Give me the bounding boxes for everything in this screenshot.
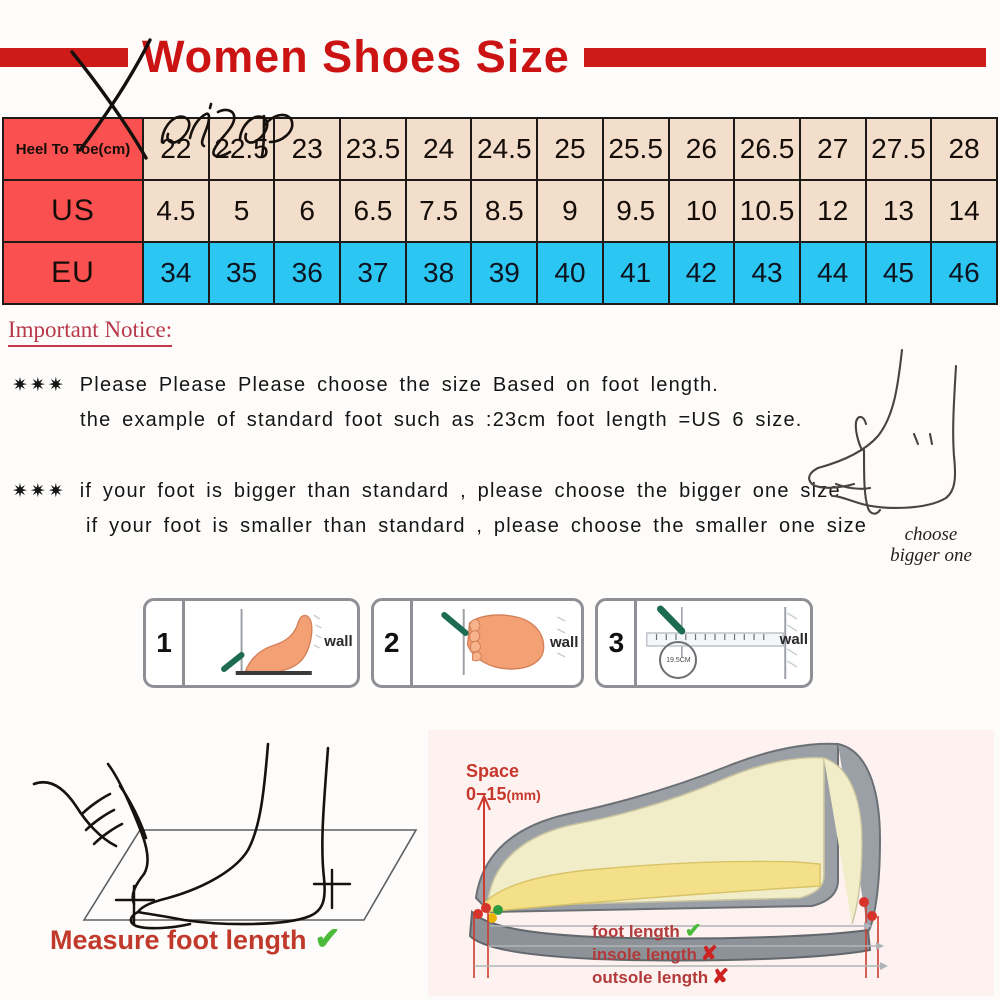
page-title: Women Shoes Size <box>128 31 584 83</box>
choose-bigger-line-1: choose <box>856 524 1000 545</box>
cell-eu-8: 42 <box>669 242 735 304</box>
label-insole-length: insole length✘ <box>592 943 729 966</box>
cell-cm-4: 24 <box>406 118 472 180</box>
cell-eu-1: 35 <box>209 242 275 304</box>
space-gap-label: Space 0−15(mm) <box>466 760 541 807</box>
space-label-line-2: 0−15(mm) <box>466 783 541 807</box>
wall-label-1: wall <box>324 633 352 650</box>
space-unit: (mm) <box>507 787 541 803</box>
step-panel-3: 3 19 <box>595 598 813 688</box>
notice-item-2-line-2: if your foot is smaller than standard , … <box>12 509 867 543</box>
cell-us-5: 8.5 <box>471 180 537 242</box>
step-panel-1: 1 wall <box>143 598 360 688</box>
space-value: 0−15 <box>466 784 507 804</box>
cell-eu-2: 36 <box>274 242 340 304</box>
insole-length-cross-icon: ✘ <box>701 943 718 965</box>
cell-cm-10: 27 <box>800 118 866 180</box>
cell-cm-0: 22 <box>143 118 209 180</box>
notice-item-1: ✷✷✷Please Please Please choose the size … <box>12 368 803 437</box>
outsole-length-text: outsole length <box>592 968 708 987</box>
wall-label-2: wall <box>550 634 578 651</box>
notice-item-1-line-2: the example of standard foot such as :23… <box>12 403 803 437</box>
cell-us-1: 5 <box>209 180 275 242</box>
cell-cm-12: 28 <box>931 118 997 180</box>
cell-eu-4: 38 <box>406 242 472 304</box>
cell-eu-5: 39 <box>471 242 537 304</box>
row-label-heel-to-toe: Heel To Toe(cm) <box>3 118 143 180</box>
cell-us-4: 7.5 <box>406 180 472 242</box>
label-outsole-length: outsole length✘ <box>592 966 729 989</box>
important-notice-heading: Important Notice: <box>8 317 172 347</box>
step-3-illustration: 19.5CM wall <box>637 601 810 685</box>
cell-eu-12: 46 <box>931 242 997 304</box>
row-label-eu: EU <box>3 242 143 304</box>
cell-cm-3: 23.5 <box>340 118 406 180</box>
title-bar-right-decoration <box>584 48 986 67</box>
cell-cm-5: 24.5 <box>471 118 537 180</box>
outsole-length-cross-icon: ✘ <box>712 966 729 988</box>
notice-stars-1: ✷✷✷ <box>12 375 66 396</box>
notice-item-2: ✷✷✷if your foot is bigger than standard … <box>12 474 867 543</box>
notice-stars-2: ✷✷✷ <box>12 481 66 502</box>
wall-label-3: wall <box>780 631 808 648</box>
cell-eu-6: 40 <box>537 242 603 304</box>
foot-side-sketch-icon <box>806 338 1000 538</box>
cell-us-0: 4.5 <box>143 180 209 242</box>
cell-eu-11: 45 <box>866 242 932 304</box>
step-number-2: 2 <box>374 601 413 685</box>
cell-us-3: 6.5 <box>340 180 406 242</box>
cell-us-6: 9 <box>537 180 603 242</box>
cell-cm-7: 25.5 <box>603 118 669 180</box>
cell-us-8: 10 <box>669 180 735 242</box>
cell-cm-11: 27.5 <box>866 118 932 180</box>
space-label-line-1: Space <box>466 760 541 783</box>
step-panel-2: 2 wall <box>371 598 585 688</box>
page-title-row: Women Shoes Size <box>0 26 1000 88</box>
cell-eu-0: 34 <box>143 242 209 304</box>
cell-cm-1: 22.5 <box>209 118 275 180</box>
cell-eu-9: 43 <box>734 242 800 304</box>
shoe-size-table: Heel To Toe(cm) 22 22.5 23 23.5 24 24.5 … <box>2 117 998 305</box>
label-foot-length: foot length✔ <box>592 920 729 943</box>
length-comparison-labels: foot length✔ insole length✘ outsole leng… <box>592 920 729 989</box>
cell-us-2: 6 <box>274 180 340 242</box>
cell-cm-9: 26.5 <box>734 118 800 180</box>
foot-length-text: foot length <box>592 922 680 941</box>
step-number-1: 1 <box>146 601 185 685</box>
step-1-illustration: wall <box>185 601 357 685</box>
measure-foot-length-caption: Measure foot length✔ <box>50 921 341 957</box>
cell-eu-10: 44 <box>800 242 866 304</box>
cell-eu-3: 37 <box>340 242 406 304</box>
green-check-icon: ✔ <box>315 921 341 956</box>
cell-cm-8: 26 <box>669 118 735 180</box>
cell-eu-7: 41 <box>603 242 669 304</box>
choose-bigger-one-caption: choose bigger one <box>856 524 1000 566</box>
choose-bigger-line-2: bigger one <box>856 545 1000 566</box>
step-number-3: 3 <box>598 601 637 685</box>
cell-cm-2: 23 <box>274 118 340 180</box>
measure-caption-text: Measure foot length <box>50 925 307 955</box>
table-row-us: US 4.5 5 6 6.5 7.5 8.5 9 9.5 10 10.5 12 … <box>3 180 997 242</box>
insole-length-text: insole length <box>592 945 697 964</box>
cell-us-9: 10.5 <box>734 180 800 242</box>
title-bar-left-decoration <box>0 48 128 67</box>
cell-us-11: 13 <box>866 180 932 242</box>
notice-item-2-line-1: if your foot is bigger than standard , p… <box>80 480 841 502</box>
cell-us-12: 14 <box>931 180 997 242</box>
cell-us-7: 9.5 <box>603 180 669 242</box>
measurement-steps: 1 wall 2 <box>143 598 813 688</box>
cell-us-10: 12 <box>800 180 866 242</box>
table-row-eu: EU 34 35 36 37 38 39 40 41 42 43 44 45 4… <box>3 242 997 304</box>
size-table-body: Heel To Toe(cm) 22 22.5 23 23.5 24 24.5 … <box>3 118 997 304</box>
foot-length-check-icon: ✔ <box>685 920 702 942</box>
cell-cm-6: 25 <box>537 118 603 180</box>
notice-item-1-line-1: Please Please Please choose the size Bas… <box>80 374 719 396</box>
step-2-illustration: wall <box>413 601 582 685</box>
row-label-us: US <box>3 180 143 242</box>
table-row-cm: Heel To Toe(cm) 22 22.5 23 23.5 24 24.5 … <box>3 118 997 180</box>
